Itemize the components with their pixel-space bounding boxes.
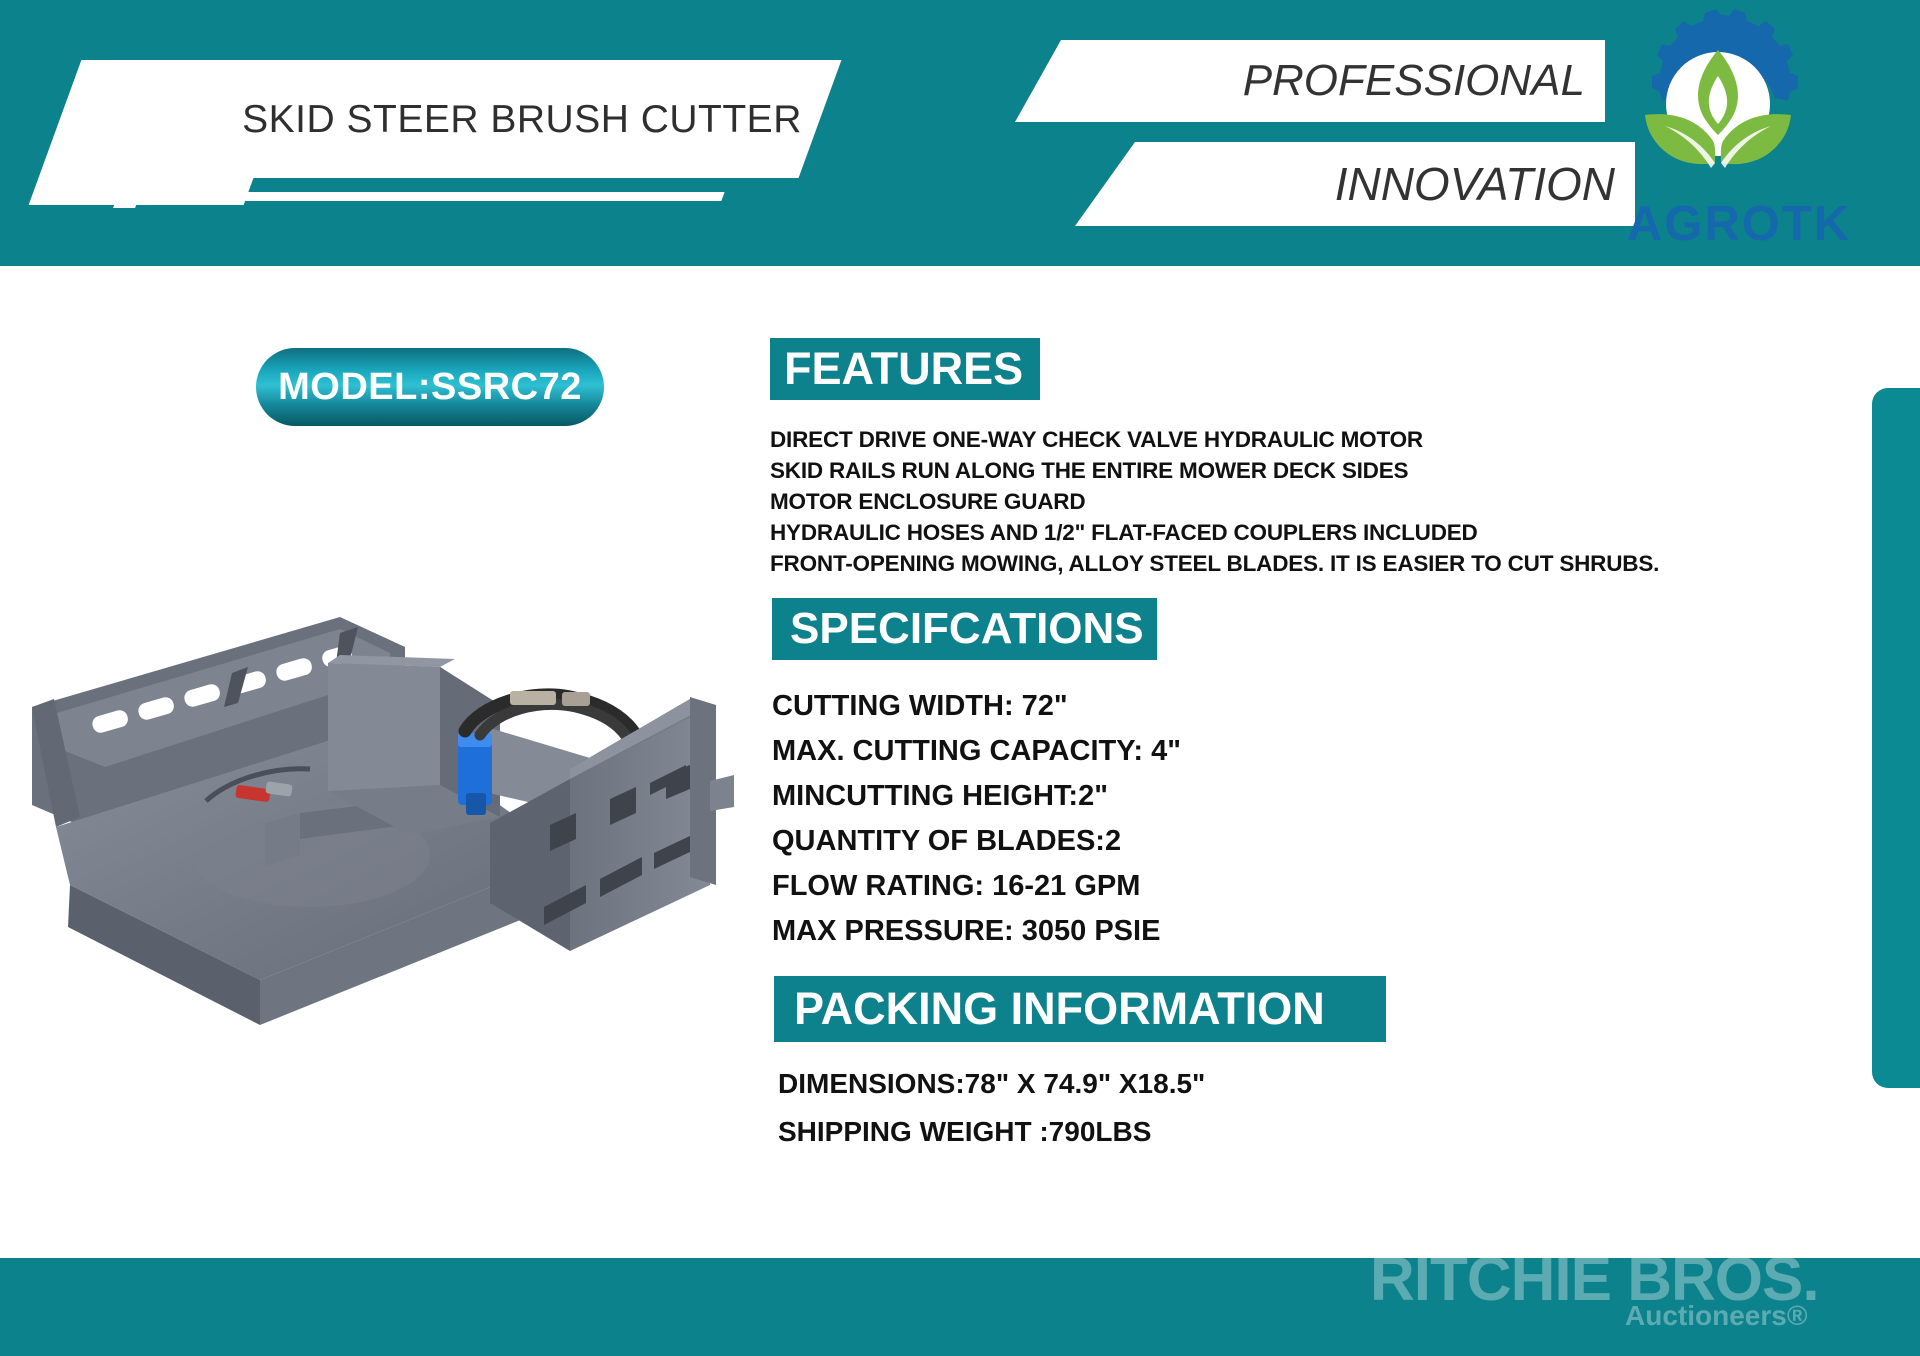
spec-item: MAX PRESSURE: 3050 PSIE	[772, 909, 1372, 954]
feature-item: SKID RAILS RUN ALONG THE ENTIRE MOWER DE…	[770, 455, 1720, 486]
tagline-professional: PROFESSIONAL	[1015, 40, 1585, 122]
specifications-heading: SPECIFCATIONS	[772, 604, 1144, 654]
section-header-specifications: SPECIFCATIONS	[772, 598, 1157, 660]
spec-item: CUTTING WIDTH: 72"	[772, 684, 1372, 729]
gear-leaf-icon	[1618, 8, 1818, 193]
header-underline-stripe	[223, 192, 724, 201]
feature-item: MOTOR ENCLOSURE GUARD	[770, 486, 1720, 517]
feature-item: HYDRAULIC HOSES AND 1/2" FLAT-FACED COUP…	[770, 517, 1720, 548]
packing-item: SHIPPING WEIGHT :790LBS	[778, 1108, 1428, 1156]
page-title: SKID STEER BRUSH CUTTER	[222, 78, 822, 162]
right-edge-tab[interactable]	[1872, 388, 1920, 1088]
model-badge: MODEL:SSRC72	[256, 348, 604, 426]
brand-logo: AGROTK	[1600, 8, 1890, 258]
features-list: DIRECT DRIVE ONE-WAY CHECK VALVE HYDRAUL…	[770, 424, 1720, 579]
spec-item: FLOW RATING: 16-21 GPM	[772, 864, 1372, 909]
feature-item: FRONT-OPENING MOWING, ALLOY STEEL BLADES…	[770, 548, 1720, 579]
spec-item: MAX. CUTTING CAPACITY: 4"	[772, 729, 1372, 774]
specifications-list: CUTTING WIDTH: 72" MAX. CUTTING CAPACITY…	[772, 684, 1372, 954]
spec-item: MINCUTTING HEIGHT:2"	[772, 774, 1372, 819]
feature-item: DIRECT DRIVE ONE-WAY CHECK VALVE HYDRAUL…	[770, 424, 1720, 455]
section-header-features: FEATURES	[770, 338, 1040, 400]
features-heading: FEATURES	[770, 343, 1023, 395]
packing-item: DIMENSIONS:78" X 74.9" X18.5"	[778, 1060, 1428, 1108]
spec-item: QUANTITY OF BLADES:2	[772, 819, 1372, 864]
brand-wordmark: AGROTK	[1600, 194, 1878, 254]
packing-heading: PACKING INFORMATION	[774, 983, 1325, 1035]
section-header-packing: PACKING INFORMATION	[774, 976, 1386, 1042]
spec-sheet-page: SKID STEER BRUSH CUTTER PROFESSIONAL INN…	[0, 0, 1920, 1356]
watermark-auctioneers: Auctioneers®	[1625, 1300, 1920, 1340]
packing-list: DIMENSIONS:78" X 74.9" X18.5" SHIPPING W…	[778, 1060, 1428, 1156]
tagline-innovation: INNOVATION	[1075, 142, 1615, 226]
product-photo	[10, 555, 770, 1055]
model-badge-label: MODEL:SSRC72	[278, 366, 582, 409]
